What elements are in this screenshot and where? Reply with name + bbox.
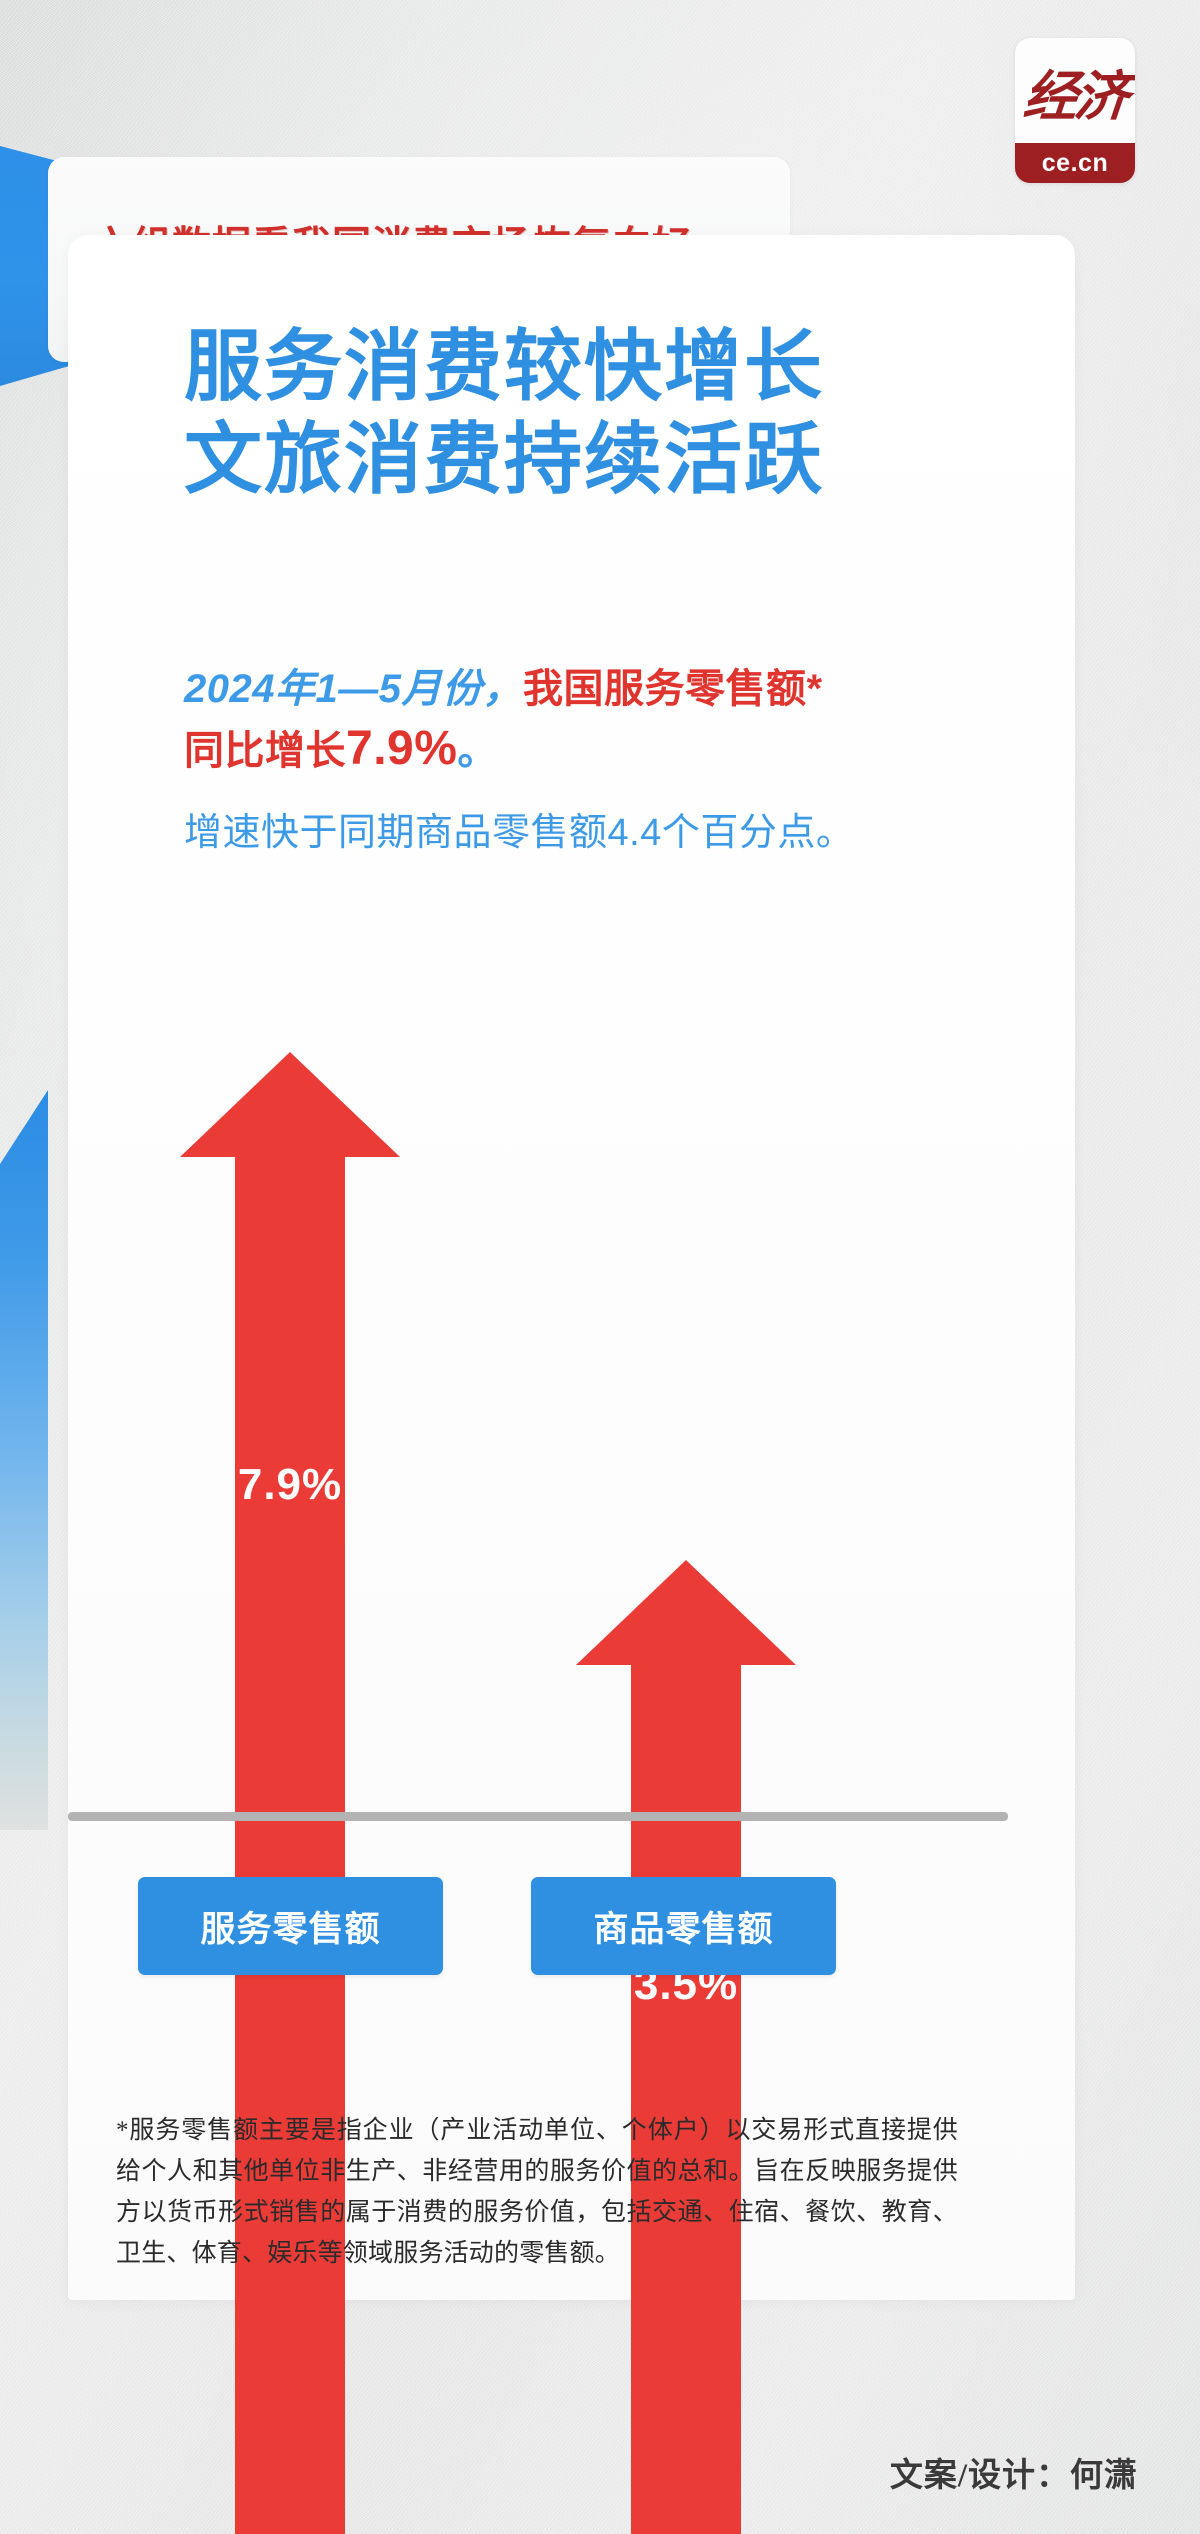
footnote-text: *服务零售额主要是指企业（产业活动单位、个体户）以交易形式直接提供给个人和其他单… [116,2110,958,2274]
chart-arrow-goods: 3.5% [576,1080,796,2534]
arrow-up-icon [576,1560,796,1665]
lead-growth-prefix: 同比增长 [184,729,346,773]
cecn-logo-domain-bar: ce.cn [1015,143,1135,183]
cecn-logo-domain-text: ce.cn [1042,149,1108,178]
decorative-blue-side-strip [0,1090,48,1830]
arrow-shaft [631,1665,741,2534]
cecn-logo-calligraphy-icon: 经济 [1015,38,1135,145]
lead-period-end: 。 [457,729,498,773]
lead-subject: 我国服务零售额* [523,667,823,711]
main-content-card: 服务消费较快增长 文旅消费持续活跃 2024年1—5月份，我国服务零售额*同比增… [68,235,1075,2300]
chart-baseline-axis [68,1812,1008,1821]
lead-growth-value: 7.9% [346,722,457,775]
chart-category-label-services: 服务零售额 [200,1901,380,1952]
chart-category-chip-goods[interactable]: 商品零售额 [531,1877,836,1975]
chart-category-chip-services[interactable]: 服务零售额 [138,1877,443,1975]
poster-canvas: 六组数据看我国消费市场恢复向好 经济 ce.cn 服务消费较快增长 文旅消费持续… [0,0,1200,2534]
cecn-logo[interactable]: 经济 ce.cn [1015,38,1135,183]
lead-paragraph: 2024年1—5月份，我国服务零售额*同比增长7.9%。 [184,659,1024,781]
arrow-bar-chart: 7.9% 3.5% [68,1080,1075,1520]
arrow-shaft [235,1157,345,2534]
secondary-paragraph: 增速快于同期商品零售额4.4个百分点。 [184,805,994,862]
chart-value-label-services: 7.9% [180,1460,400,1510]
arrow-up-icon [180,1052,400,1157]
chart-arrow-services: 7.9% [180,1080,400,2534]
lead-period: 2024年1—5月份， [184,667,523,711]
headline-line-1: 服务消费较快增长 [184,320,824,413]
credit-line: 文案/设计：何潇 [890,2448,1138,2496]
chart-category-label-goods: 商品零售额 [593,1901,773,1952]
page-title: 服务消费较快增长 文旅消费持续活跃 [184,320,824,506]
headline-line-2: 文旅消费持续活跃 [184,413,824,506]
